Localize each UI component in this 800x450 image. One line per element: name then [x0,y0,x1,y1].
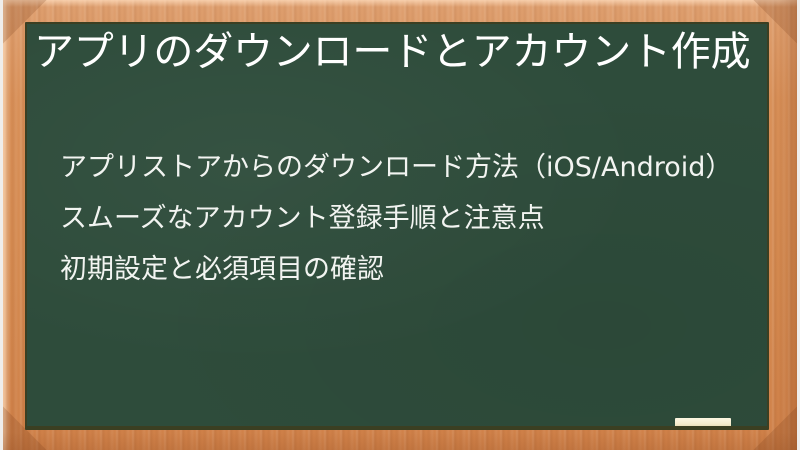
frame-bevel-bottom [3,432,797,450]
list-item: スムーズなアカウント登録手順と注意点 [60,201,766,236]
chalkboard-surface: アプリのダウンロードとアカウント作成 アプリストアからのダウンロード方法（iOS… [27,24,767,426]
frame-bevel-right [779,0,797,450]
chalkboard-slide: アプリのダウンロードとアカウント作成 アプリストアからのダウンロード方法（iOS… [0,0,800,450]
chalk-eraser-icon [675,418,731,426]
bullet-list: アプリストアからのダウンロード方法（iOS/Android） スムーズなアカウン… [60,150,766,287]
list-item: 初期設定と必須項目の確認 [60,252,766,287]
frame-bevel-top [3,0,797,7]
list-item: アプリストアからのダウンロード方法（iOS/Android） [60,150,766,185]
slide-title: アプリのダウンロードとアカウント作成 [34,28,760,77]
frame-bevel-left [3,0,11,450]
